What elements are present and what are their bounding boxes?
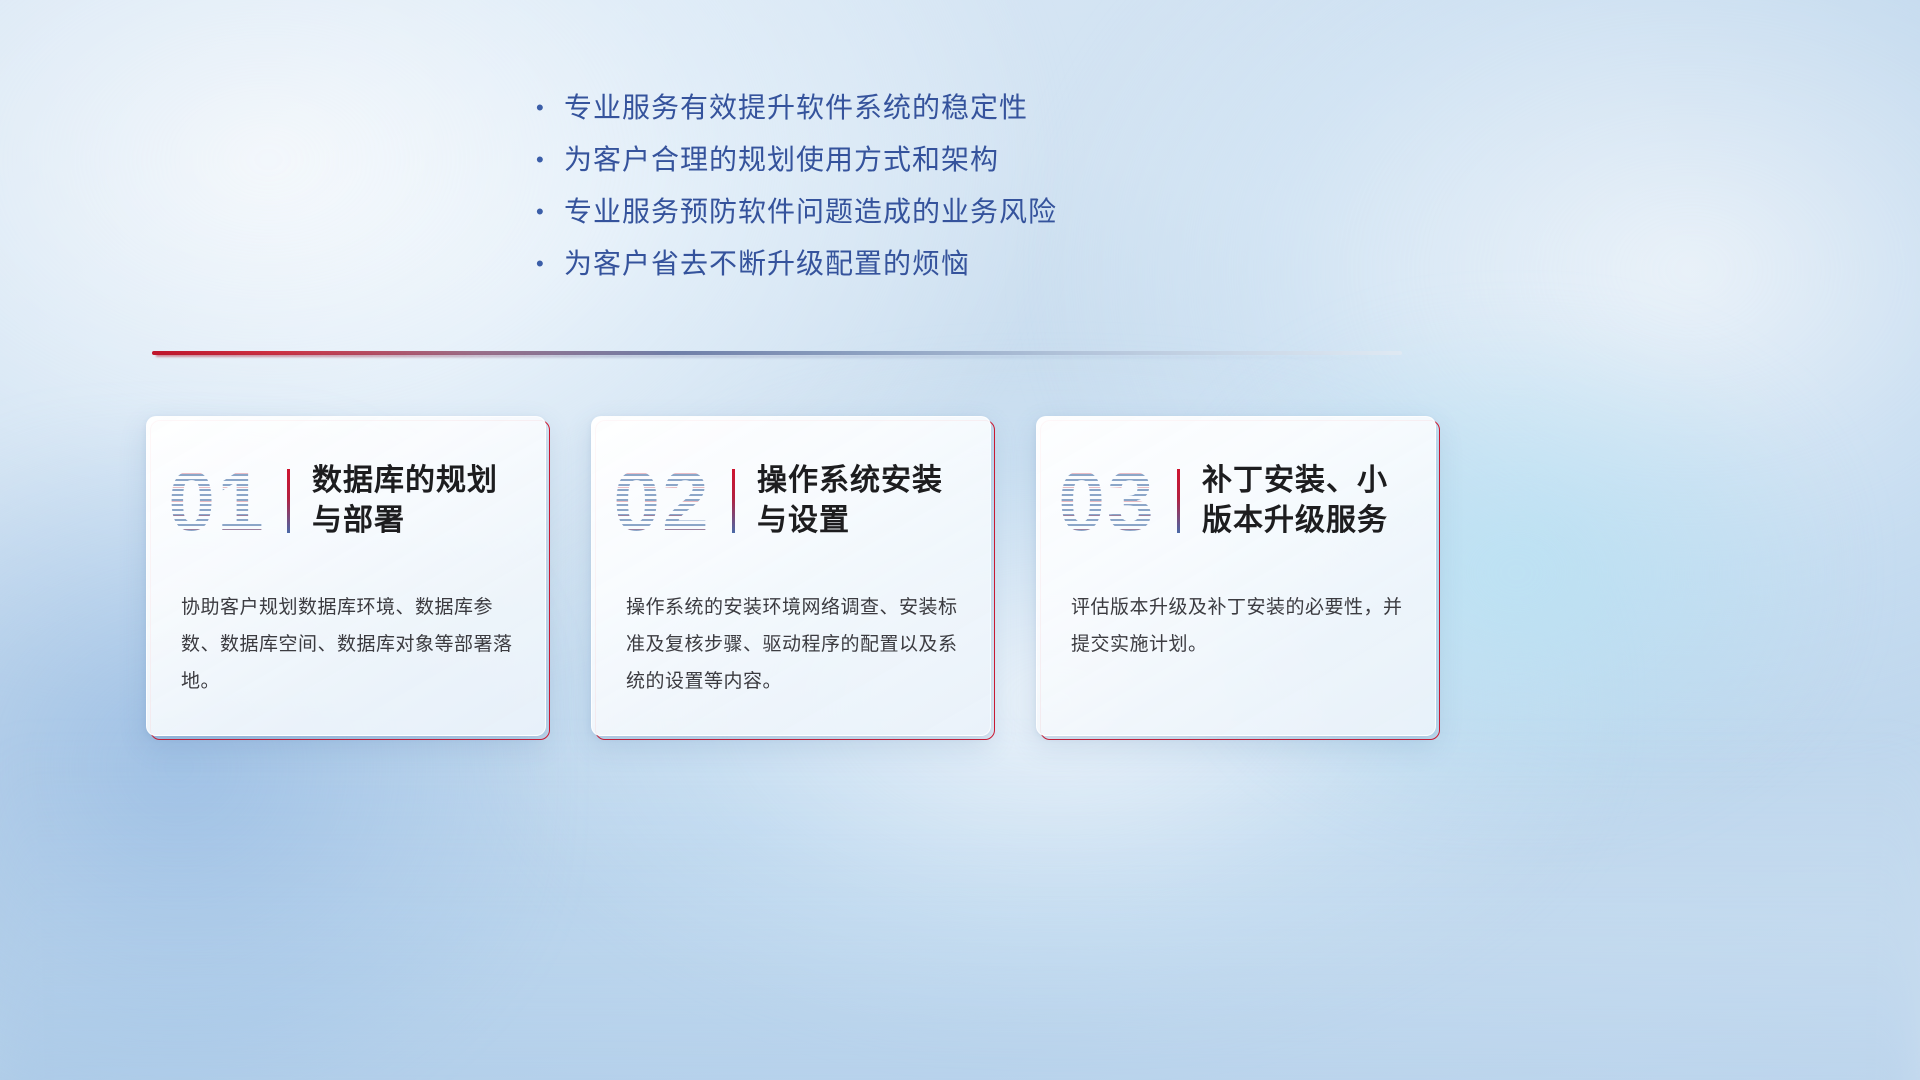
card-body-text: 操作系统的安装环境网络调查、安装标准及复核步骤、驱动程序的配置以及系统的设置等内… <box>626 589 962 700</box>
bullet-text: 为客户合理的规划使用方式和架构 <box>564 138 999 178</box>
card-surface: 02 操作系统安装与设置 操作系统的安装环境网络调查、安装标准及复核步骤、驱动程… <box>591 416 991 736</box>
list-item: • 专业服务预防软件问题造成的业务风险 <box>536 190 1436 242</box>
card-header: 03 补丁安装、小版本升级服务 <box>1037 437 1435 565</box>
card-group: 01 数据库的规划与部署 协助客户规划数据库环境、数据库参数、数据库空间、数据库… <box>150 420 1440 740</box>
card-body-text: 协助客户规划数据库环境、数据库参数、数据库空间、数据库对象等部署落地。 <box>181 589 517 700</box>
card-divider-bar <box>1177 469 1180 533</box>
card-header: 01 数据库的规划与部署 <box>147 437 545 565</box>
card-number: 01 <box>147 459 287 543</box>
card-title: 补丁安装、小版本升级服务 <box>1202 461 1412 540</box>
list-item: • 为客户合理的规划使用方式和架构 <box>536 138 1436 190</box>
card-body-text: 评估版本升级及补丁安装的必要性，并提交实施计划。 <box>1071 589 1407 663</box>
bullet-dot-icon: • <box>536 149 564 171</box>
card-number: 02 <box>592 459 732 543</box>
card-divider-bar <box>287 469 290 533</box>
service-card-01[interactable]: 01 数据库的规划与部署 协助客户规划数据库环境、数据库参数、数据库空间、数据库… <box>150 420 550 740</box>
bullet-text: 专业服务预防软件问题造成的业务风险 <box>564 190 1057 230</box>
bullet-list: • 专业服务有效提升软件系统的稳定性 • 为客户合理的规划使用方式和架构 • 专… <box>536 86 1436 294</box>
bullet-dot-icon: • <box>536 97 564 119</box>
bullet-text: 专业服务有效提升软件系统的稳定性 <box>564 86 1028 126</box>
card-title: 数据库的规划与部署 <box>312 461 522 540</box>
section-divider <box>152 347 1402 363</box>
service-card-03[interactable]: 03 补丁安装、小版本升级服务 评估版本升级及补丁安装的必要性，并提交实施计划。 <box>1040 420 1440 740</box>
list-item: • 专业服务有效提升软件系统的稳定性 <box>536 86 1436 138</box>
card-divider-bar <box>732 469 735 533</box>
list-item: • 为客户省去不断升级配置的烦恼 <box>536 242 1436 294</box>
service-card-02[interactable]: 02 操作系统安装与设置 操作系统的安装环境网络调查、安装标准及复核步骤、驱动程… <box>595 420 995 740</box>
bullet-text: 为客户省去不断升级配置的烦恼 <box>564 242 970 282</box>
card-surface: 03 补丁安装、小版本升级服务 评估版本升级及补丁安装的必要性，并提交实施计划。 <box>1036 416 1436 736</box>
card-surface: 01 数据库的规划与部署 协助客户规划数据库环境、数据库参数、数据库空间、数据库… <box>146 416 546 736</box>
bullet-dot-icon: • <box>536 201 564 223</box>
card-title: 操作系统安装与设置 <box>757 461 967 540</box>
bullet-dot-icon: • <box>536 253 564 275</box>
card-number: 03 <box>1037 459 1177 543</box>
card-header: 02 操作系统安装与设置 <box>592 437 990 565</box>
